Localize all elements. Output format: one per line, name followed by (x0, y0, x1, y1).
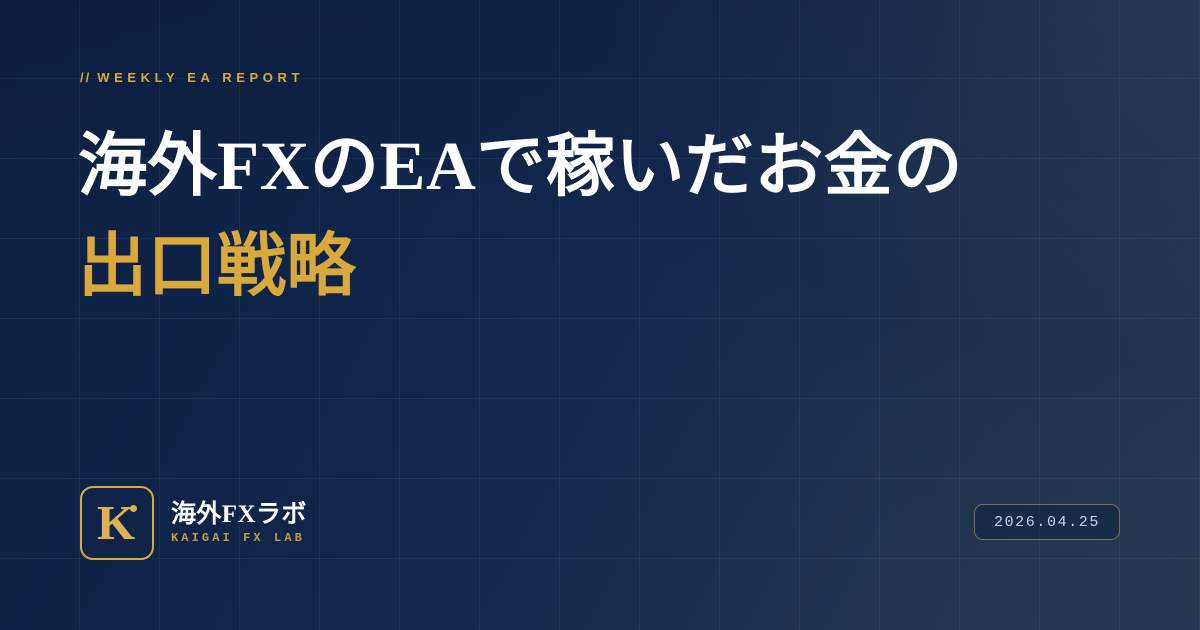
eyebrow-text: WEEKLY EA REPORT (97, 70, 304, 85)
logo-letter: K (82, 488, 152, 558)
brand-text: 海外FXラボ KAIGAI FX LAB (171, 501, 307, 546)
og-image-canvas: //WEEKLY EA REPORT 海外FXのEAで稼いだお金の 出口戦略 K… (0, 0, 1200, 630)
accent-dot-icon (130, 505, 137, 512)
brand-subtitle: KAIGAI FX LAB (171, 531, 307, 545)
date-badge: 2026.04.25 (974, 504, 1120, 540)
brand-lockup: K 海外FXラボ KAIGAI FX LAB (80, 486, 307, 560)
eyebrow-label: //WEEKLY EA REPORT (80, 70, 304, 85)
title-line-accent: 出口戦略 (78, 216, 1128, 316)
title-line-primary: 海外FXのEAで稼いだお金の (78, 116, 1128, 216)
brand-name: 海外FXラボ (171, 501, 307, 529)
slashes-marker: // (80, 70, 91, 85)
logo-mark: K (80, 486, 154, 560)
date-badge-value: 2026.04.25 (994, 514, 1100, 531)
page-title: 海外FXのEAで稼いだお金の 出口戦略 (78, 116, 1128, 316)
